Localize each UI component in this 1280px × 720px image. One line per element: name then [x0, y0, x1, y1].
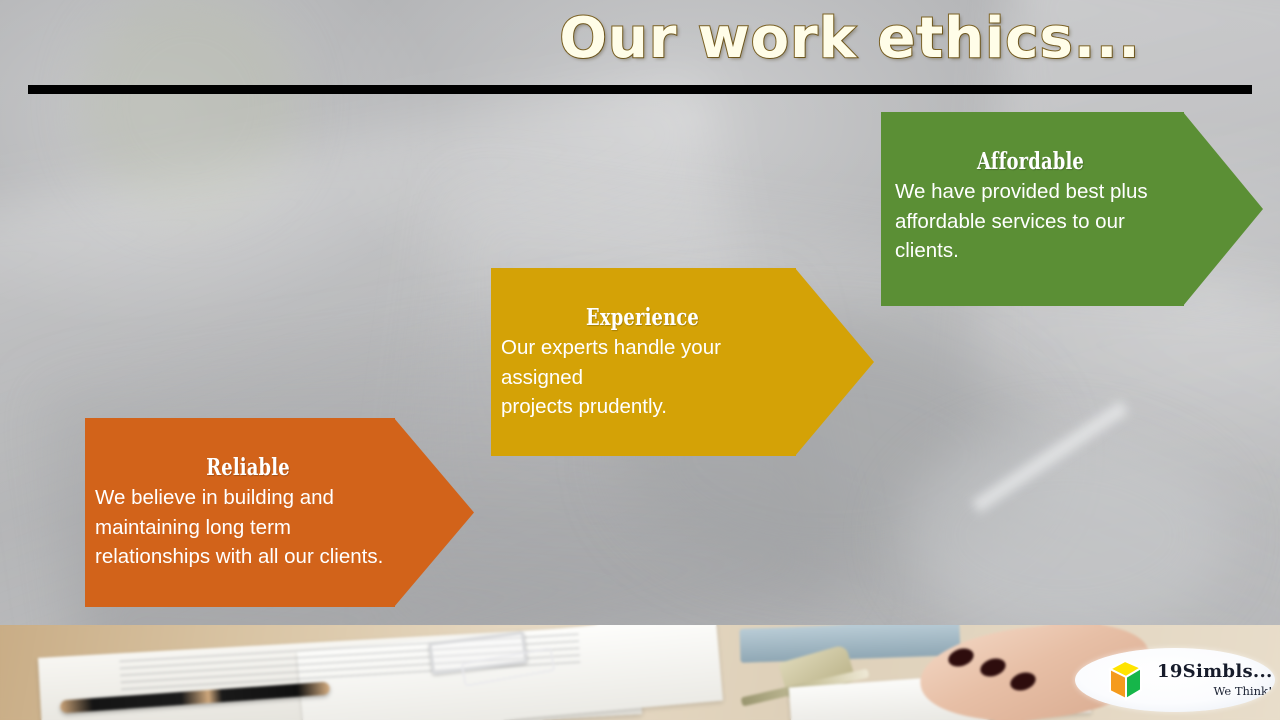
chevron-reliable[interactable]: Reliable We believe in building and main…: [85, 418, 474, 607]
chevron-heading: Reliable: [129, 454, 368, 481]
chevron-heading: Affordable: [925, 148, 1136, 175]
presentation-slide: Our work ethics... Affordable We have pr…: [0, 0, 1280, 720]
chevron-content: Affordable We have provided best plus af…: [881, 112, 1184, 306]
logo-tagline: We Think!: [1157, 686, 1273, 698]
chevron-body-text: We have provided best plus affordable se…: [895, 177, 1166, 266]
slide-title: Our work ethics...: [330, 8, 1280, 70]
logo-name: 19Simbls...: [1157, 663, 1273, 681]
chevron-experience[interactable]: Experience Our experts handle your assig…: [491, 268, 874, 456]
background-blur-blob: [900, 430, 1230, 640]
chevron-arrow-tip: [1183, 112, 1263, 306]
logo-text-block: 19Simbls... We Think!: [1157, 663, 1273, 698]
chevron-content: Experience Our experts handle your assig…: [491, 268, 796, 456]
cube-icon: [1101, 656, 1149, 704]
title-divider-rule: [28, 85, 1252, 94]
chevron-body-text: We believe in building and maintaining l…: [95, 483, 401, 572]
chevron-affordable[interactable]: Affordable We have provided best plus af…: [881, 112, 1263, 306]
chevron-body-text: Our experts handle your assigned project…: [501, 333, 784, 422]
chevron-arrow-tip: [394, 418, 474, 607]
chevron-arrow-tip: [795, 268, 874, 456]
chevron-content: Reliable We believe in building and main…: [85, 418, 405, 607]
chevron-heading: Experience: [532, 304, 753, 331]
company-logo[interactable]: 19Simbls... We Think!: [1075, 648, 1275, 712]
